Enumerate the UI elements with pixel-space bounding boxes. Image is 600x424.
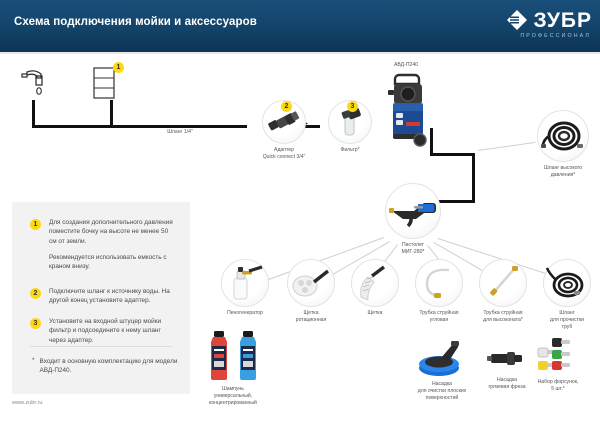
angled-tube-icon bbox=[419, 264, 459, 302]
rotating-brush-icon bbox=[290, 266, 332, 300]
hp-hose-top bbox=[430, 153, 475, 156]
page-header: Схема подключения мойки и аксессуаров ЗУ… bbox=[0, 0, 600, 52]
hose-label: Шланг 1/4" bbox=[152, 129, 208, 136]
accessory-hp-tube: Трубка струйная для высоконата* bbox=[467, 259, 539, 324]
rotating-brush-caption: Щетка ротационная bbox=[275, 310, 347, 324]
footnote-text: Входит в основную комплектацию для модел… bbox=[40, 357, 183, 376]
shampoo-bottle-red-icon bbox=[206, 330, 232, 382]
tap-drop-line bbox=[32, 100, 35, 128]
badge-barrel-1: 1 bbox=[113, 62, 124, 73]
foam-generator-circle bbox=[221, 259, 269, 307]
brush-circle bbox=[351, 259, 399, 307]
main-hose-line bbox=[32, 125, 247, 128]
header-divider bbox=[0, 52, 600, 54]
panel-divider bbox=[30, 346, 172, 347]
footnote-marker: * bbox=[32, 357, 35, 376]
barrel-drop-line bbox=[110, 100, 113, 128]
angled-tube-circle bbox=[415, 259, 463, 307]
brush-caption: Щетка bbox=[339, 310, 411, 317]
pipe-hose-caption: Шланг для прочистки труб bbox=[531, 310, 600, 331]
step-2-text: Подключите шланг к источнику воды. На др… bbox=[49, 287, 175, 306]
patio-cleaner-caption: Насадка для очистки плоских поверхностей bbox=[406, 381, 478, 402]
brand-name: ЗУБР bbox=[533, 10, 592, 31]
bottom-item-patio-cleaner: Насадка для очистки плоских поверхностей bbox=[406, 338, 478, 402]
shampoo-bottle-blue-icon bbox=[235, 330, 261, 382]
step-1-number: 1 bbox=[30, 219, 41, 230]
step-3-number: 3 bbox=[30, 318, 41, 329]
nozzle-set-icon bbox=[530, 336, 586, 376]
panel-footnote: * Входит в основную комплектацию для мод… bbox=[32, 357, 182, 376]
foam-generator-icon bbox=[225, 265, 265, 301]
accessory-foam-generator: Пеногенератор bbox=[209, 259, 281, 317]
gun-circle bbox=[385, 183, 441, 239]
high-pressure-hose-icon bbox=[541, 116, 585, 156]
accessory-rotating-brush: Щетка ротационная bbox=[275, 259, 347, 324]
rotating-brush-circle bbox=[287, 259, 335, 307]
brand-tagline: ПРОФЕССИОНАЛ bbox=[520, 33, 591, 39]
accessory-pipe-hose: Шланг для прочистки труб bbox=[531, 259, 600, 331]
angled-tube-caption: Трубка струйная угловая bbox=[403, 310, 475, 324]
pipe-hose-circle bbox=[543, 259, 591, 307]
step-1-text-b: Рекомендуется использовать емкость с кра… bbox=[49, 253, 175, 272]
nozzle-set-caption: Набор форсунок, 5 шт.* bbox=[522, 379, 594, 393]
badge-filter-3: 3 bbox=[347, 101, 358, 112]
filter-caption: Фильтр* bbox=[314, 147, 386, 154]
shampoo-caption: Шампунь универсальный, концентрированный bbox=[197, 386, 269, 407]
page-title: Схема подключения мойки и аксессуаров bbox=[14, 16, 257, 28]
site-url: www.zubr.ru bbox=[12, 400, 42, 406]
spray-gun-icon bbox=[388, 194, 438, 228]
washer-outlet-line bbox=[430, 128, 433, 156]
instruction-step-3: 3 Установите на входной штуцер мойки фил… bbox=[30, 317, 175, 345]
instruction-step-1: 1 Для создания дополнительного давления … bbox=[30, 218, 175, 271]
instruction-step-2: 2 Подключите шланг к источнику воды. На … bbox=[30, 287, 175, 306]
hp-hose-right bbox=[472, 153, 475, 203]
brand-logo: ЗУБР ПРОФЕССИОНАЛ bbox=[506, 9, 592, 39]
hp-tube-caption: Трубка струйная для высоконата* bbox=[467, 310, 539, 324]
washer-label: АВД-П240 bbox=[378, 62, 434, 69]
foam-generator-caption: Пеногенератор bbox=[209, 310, 281, 317]
brush-icon bbox=[355, 265, 395, 301]
patio-cleaner-icon bbox=[417, 338, 467, 378]
step-1-text-a: Для создания дополнительного давления по… bbox=[49, 218, 175, 246]
zubr-arrow-icon bbox=[506, 9, 528, 31]
hp-tube-icon bbox=[483, 264, 523, 302]
pipe-cleaning-hose-icon bbox=[546, 265, 588, 301]
water-tap bbox=[18, 68, 52, 98]
pressure-washer bbox=[386, 72, 430, 148]
bottom-item-nozzle-set: Набор форсунок, 5 шт.* bbox=[522, 336, 594, 393]
hp-tube-circle bbox=[479, 259, 527, 307]
shampoo-bottles bbox=[206, 330, 261, 382]
step-2-number: 2 bbox=[30, 288, 41, 299]
adapter-icon bbox=[267, 109, 301, 135]
accessory-brush: Щетка bbox=[339, 259, 411, 317]
bottom-item-shampoo: Шампунь универсальный, концентрированный bbox=[197, 330, 269, 407]
faucet-icon bbox=[18, 68, 52, 98]
hp-hose-circle bbox=[537, 110, 589, 162]
turbo-nozzle-icon bbox=[487, 344, 527, 374]
adapter-caption: Адаптер Quick connect 3/4" bbox=[248, 147, 320, 161]
node-hp-hose: Шланг высокого давления* bbox=[527, 110, 599, 179]
step-3-text: Установите на входной штуцер мойки фильт… bbox=[49, 317, 175, 345]
pressure-washer-icon bbox=[386, 72, 430, 148]
hp-hose-caption: Шланг высокого давления* bbox=[527, 165, 599, 179]
instructions-panel: 1 Для создания дополнительного давления … bbox=[12, 202, 190, 394]
badge-adapter-2: 2 bbox=[281, 101, 292, 112]
accessory-angled-tube: Трубка струйная угловая bbox=[403, 259, 475, 324]
